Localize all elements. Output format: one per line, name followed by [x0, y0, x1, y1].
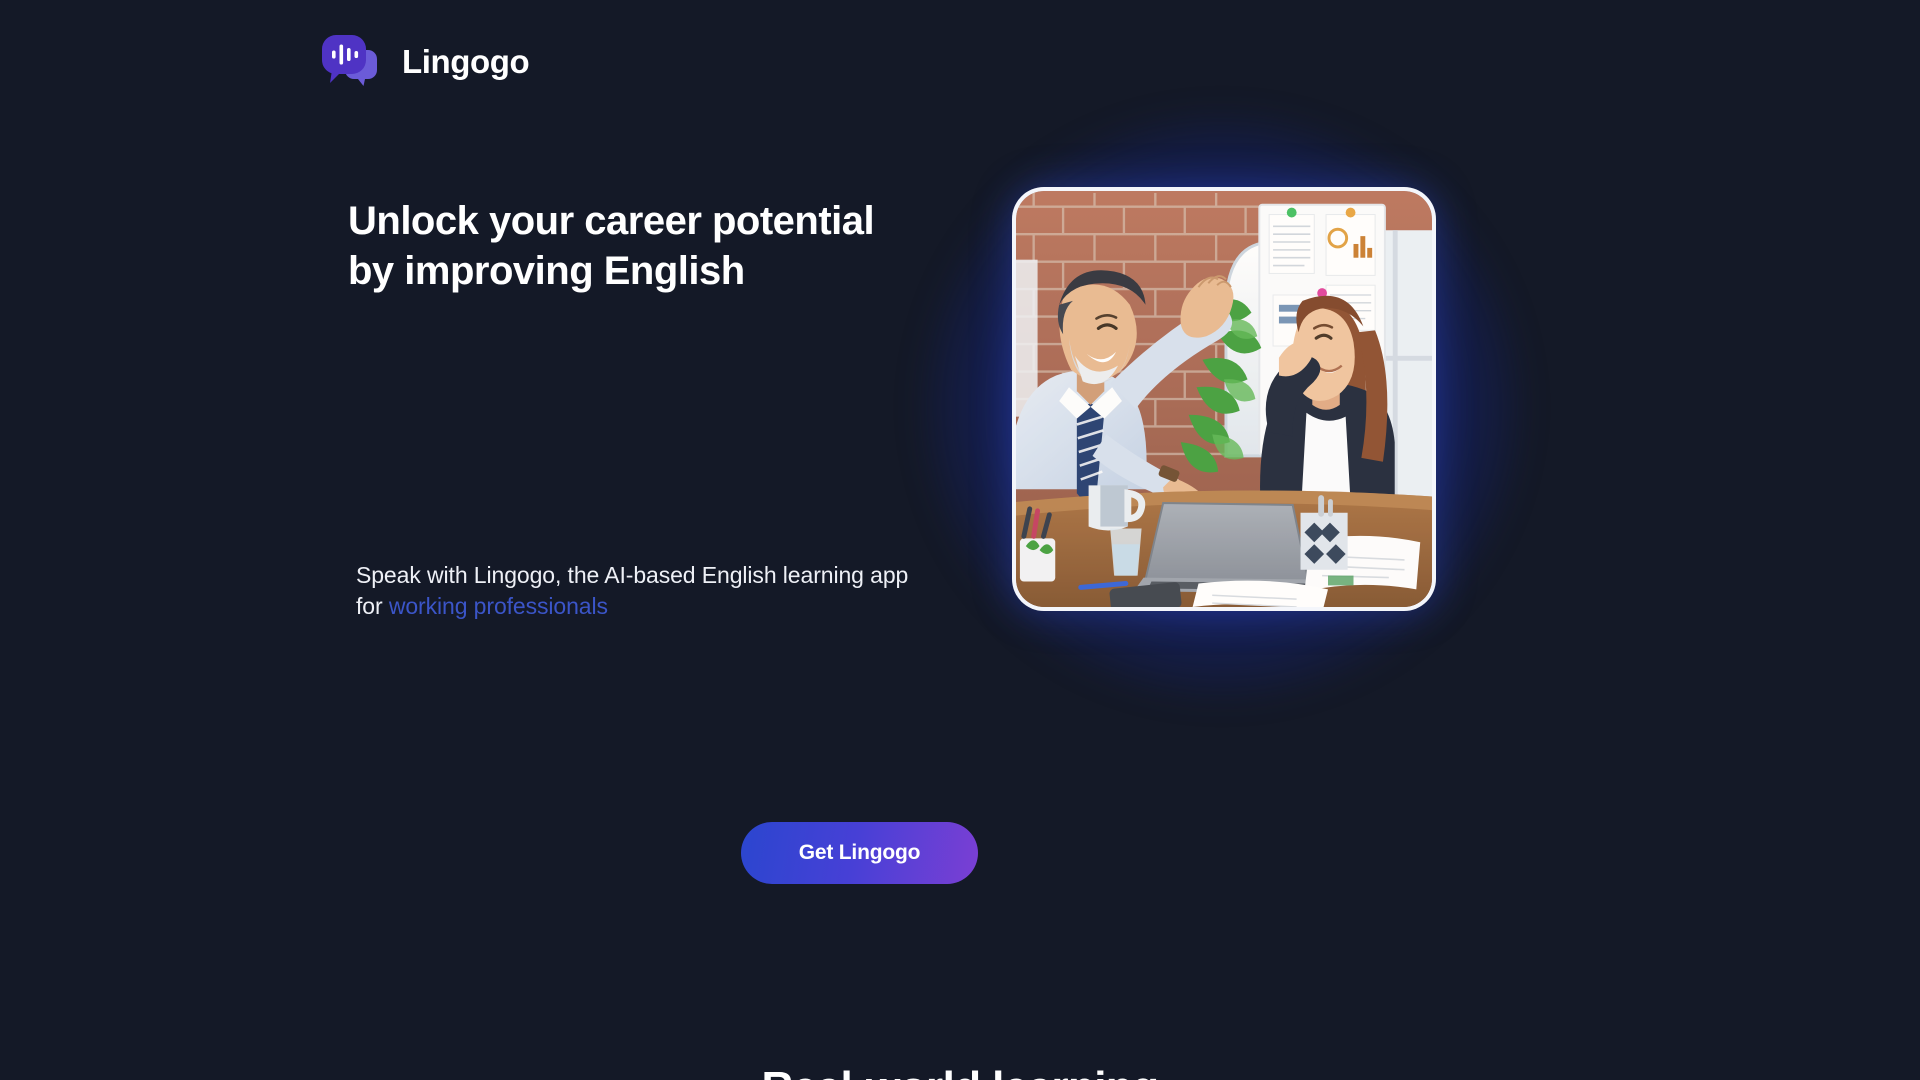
hero-copy: Unlock your career potential by improvin…	[348, 196, 908, 297]
hero-visual	[970, 150, 1470, 650]
page-title: Unlock your career potential by improvin…	[348, 196, 888, 297]
next-section-title: Real-world learning	[0, 1020, 1920, 1080]
cta-wrap: Get Lingogo	[741, 822, 978, 884]
hero-image	[1016, 191, 1432, 607]
hero-subtitle: Speak with Lingogo, the AI-based English…	[356, 560, 916, 622]
next-section: Real-world learning	[0, 1020, 1920, 1080]
hero-image-frame	[1012, 187, 1436, 611]
get-lingogo-button[interactable]: Get Lingogo	[741, 822, 978, 884]
working-professionals-link[interactable]: working professionals	[389, 593, 608, 619]
hero-section: Unlock your career potential by improvin…	[0, 0, 1920, 1000]
